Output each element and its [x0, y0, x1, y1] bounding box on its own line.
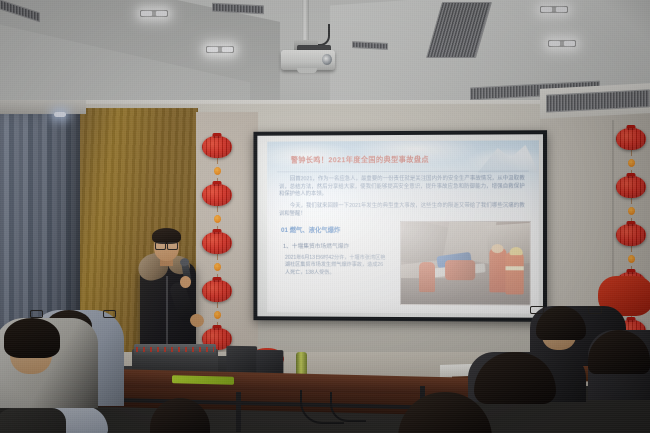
slide-item-label: 1、十堰集贸市场燃气爆炸 — [283, 241, 349, 250]
glasses-icon — [155, 242, 178, 248]
attendee-foreground-left — [0, 318, 90, 433]
attendee-hair — [398, 392, 492, 433]
projection-screen-frame: 警钟长鸣！2021年度全国的典型事故盘点 回首2021，作为一名应急人，最重要的… — [253, 130, 547, 322]
lantern-cord — [631, 150, 632, 156]
attendee-foreground-center — [150, 398, 210, 433]
green-desk-mat — [172, 375, 234, 385]
lantern-cord — [217, 206, 218, 212]
presentation-slide: 警钟长鸣！2021年度全国的典型事故盘点 回首2021，作为一名应急人，最重要的… — [267, 140, 539, 313]
curtain-valance — [0, 100, 86, 114]
attendee-foreground-right — [398, 392, 492, 433]
photo-firefighter — [419, 262, 435, 292]
attendee-jacket — [0, 408, 66, 433]
slide-section-heading: 01 燃气、液化气爆炸 — [281, 225, 340, 234]
lantern-knot — [214, 311, 221, 319]
slide-title: 警钟长鸣！2021年度全国的典型事故盘点 — [291, 155, 429, 166]
lantern-knot — [214, 263, 221, 271]
slide-paragraph-2: 今天，我们就来回顾一下2021年发生的典型重大事故，这些生命的陨逝又带给了我们哪… — [279, 203, 525, 218]
wall-downlight — [54, 112, 66, 117]
lantern-knot — [214, 167, 221, 175]
slide-section-number: 01 — [281, 227, 288, 234]
lantern-knot — [628, 255, 635, 263]
ceiling-light-2 — [206, 46, 234, 53]
ceiling-light-1 — [140, 10, 168, 17]
table-leg — [236, 392, 241, 432]
lantern-knot — [628, 207, 635, 215]
lantern-knot — [214, 215, 221, 223]
photo-firefighter-head — [491, 244, 503, 253]
mixer-knobs[interactable] — [136, 347, 214, 352]
lantern-cord — [631, 198, 632, 204]
slide-paragraph-1: 回首2021，作为一名应急人，最重要的一份责任就是关注国内外的安全生产事故情况，… — [279, 176, 525, 199]
attendee-hair — [4, 318, 60, 358]
lantern — [616, 176, 646, 198]
slide-photo-rescue-scene — [400, 221, 531, 306]
lantern-cord — [217, 302, 218, 308]
attendee-far-right — [588, 330, 650, 433]
lantern-cord — [631, 246, 632, 252]
power-cable — [330, 392, 366, 422]
presenter-hand — [180, 276, 191, 288]
slide-body-text: 2021年6月13日6时42分许，十堰市张湾区艳湖社区集贸市场发生燃气爆炸事故，… — [285, 255, 388, 277]
ceiling-light-4 — [548, 40, 576, 47]
lantern — [616, 224, 646, 246]
lantern — [616, 128, 646, 150]
projection-screen: 警钟长鸣！2021年度全国的典型事故盘点 回首2021，作为一名应急人，最重要的… — [257, 134, 543, 318]
conference-room-photo: 警钟长鸣！2021年度全国的典型事故盘点 回首2021，作为一名应急人，最重要的… — [0, 0, 650, 433]
slide-section-title: 燃气、液化气爆炸 — [290, 227, 341, 234]
ceiling-light-3 — [540, 6, 568, 13]
lantern-knot — [628, 159, 635, 167]
photo-firefighter — [506, 252, 524, 294]
photo-reflective-band — [506, 266, 524, 270]
lantern — [202, 136, 232, 158]
curtain-shading — [0, 108, 80, 340]
photo-firefighter — [445, 260, 475, 280]
lantern-cord — [217, 158, 218, 164]
lantern-cord — [217, 254, 218, 260]
attendee-hair — [150, 398, 210, 433]
projector-lens — [322, 54, 332, 65]
lantern — [202, 184, 232, 206]
photo-firefighter — [489, 248, 506, 292]
presenter-coat-zipper — [166, 276, 168, 346]
photo-helmet — [510, 247, 523, 255]
